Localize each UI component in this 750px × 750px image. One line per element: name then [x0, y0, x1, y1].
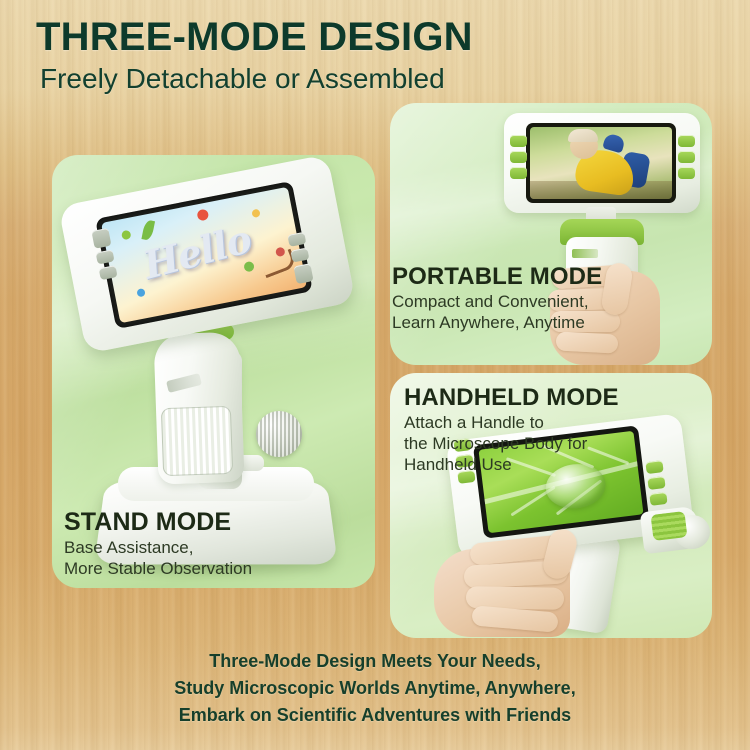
stand-mode-title: STAND MODE — [64, 508, 252, 537]
handheld-mode-title: HANDHELD MODE — [404, 383, 619, 412]
screen-hello-text: Hello — [139, 220, 254, 285]
device-button[interactable] — [678, 135, 695, 147]
leaf-icon — [141, 219, 155, 241]
caption-portable-mode: PORTABLE MODE Compact and Convenient, Le… — [392, 262, 602, 333]
finger — [556, 331, 619, 353]
caption-handheld-mode: HANDHELD MODE Attach a Handle to the Mic… — [404, 383, 619, 475]
thumb — [540, 526, 579, 581]
footer-line-1: Three-Mode Design Meets Your Needs, — [0, 648, 750, 675]
device-button[interactable] — [510, 135, 527, 147]
handheld-mode-desc-line-1: Attach a Handle to — [404, 412, 619, 433]
portable-mode-desc-line-2: Learn Anywhere, Anytime — [392, 312, 602, 333]
stand-mode-desc-line-2: More Stable Observation — [64, 558, 252, 579]
stand-mode-desc-line-1: Base Assistance, — [64, 537, 252, 558]
footer-line-2: Study Microscopic Worlds Anytime, Anywhe… — [0, 675, 750, 702]
handheld-mode-desc-line-3: Handheld Use — [404, 454, 619, 475]
device-button[interactable] — [96, 249, 115, 264]
device-button[interactable] — [91, 228, 111, 249]
doodle-dot-yellow — [251, 209, 260, 218]
device-button[interactable] — [645, 460, 663, 474]
microscope-grip-texture — [161, 406, 233, 476]
photo-child-hat — [568, 129, 598, 142]
device-button[interactable] — [649, 492, 667, 506]
hand-holding-handle — [430, 523, 590, 638]
footer-tagline: Three-Mode Design Meets Your Needs, Stud… — [0, 648, 750, 729]
caption-stand-mode: STAND MODE Base Assistance, More Stable … — [64, 508, 252, 579]
device-button[interactable] — [510, 151, 527, 163]
page-subtitle: Freely Detachable or Assembled — [0, 60, 750, 96]
lens-focus-grip — [651, 511, 688, 541]
portable-mode-desc-line-1: Compact and Convenient, — [392, 291, 602, 312]
doodle-dot-lime — [243, 261, 255, 273]
doodle-dot-blue — [136, 288, 145, 297]
device-button[interactable] — [647, 476, 665, 490]
side-button-group-right[interactable] — [678, 135, 695, 179]
device-button[interactable] — [678, 167, 695, 179]
handheld-mode-desc-line-2: the Microscope Body for — [404, 433, 619, 454]
device-button[interactable] — [290, 248, 309, 263]
screen-display — [530, 127, 672, 199]
device-button[interactable] — [293, 263, 313, 284]
device-button[interactable] — [287, 232, 306, 247]
doodle-dot-red — [196, 209, 209, 222]
footer-line-3: Embark on Scientific Adventures with Fri… — [0, 702, 750, 729]
doodle-dot-green — [121, 230, 132, 241]
device-button[interactable] — [678, 151, 695, 163]
portable-mode-title: PORTABLE MODE — [392, 262, 602, 291]
header-block: THREE-MODE DESIGN Freely Detachable or A… — [0, 0, 750, 96]
page-title: THREE-MODE DESIGN — [0, 0, 750, 60]
side-button-group-left[interactable] — [510, 135, 527, 179]
product-infographic-poster: THREE-MODE DESIGN Freely Detachable or A… — [0, 0, 750, 750]
device-button[interactable] — [510, 167, 527, 179]
focus-knob — [256, 411, 302, 457]
